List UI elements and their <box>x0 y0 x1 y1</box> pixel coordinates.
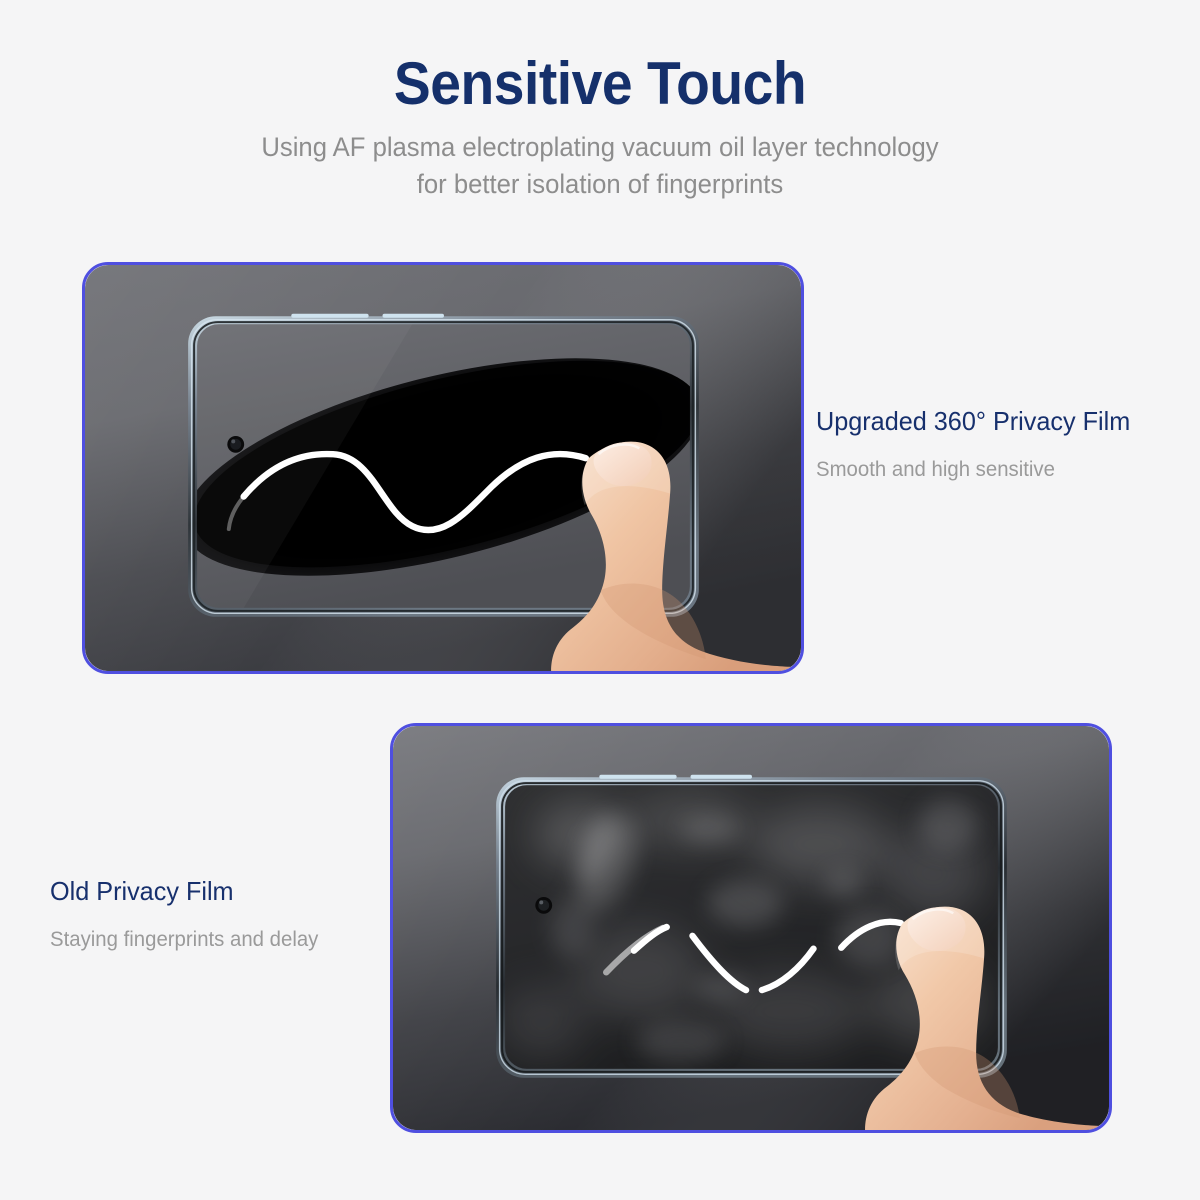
page-subtitle-line-2: for better isolation of fingerprints <box>30 166 1170 203</box>
page-title: Sensitive Touch <box>48 52 1152 115</box>
upgraded-film-callout-sub: Smooth and high sensitive <box>816 457 1175 482</box>
old-film-callout-sub: Staying fingerprints and delay <box>50 927 390 952</box>
phone-side-button-icon <box>691 775 752 779</box>
old-film-callout: Old Privacy Film Staying fingerprints an… <box>50 876 400 952</box>
upgraded-film-panel <box>82 262 804 674</box>
page-subtitle-line-1: Using AF plasma electroplating vacuum oi… <box>30 129 1170 166</box>
phone-side-button-icon <box>383 314 444 318</box>
upgraded-film-callout: Upgraded 360° Privacy Film Smooth and hi… <box>816 406 1186 482</box>
page-subtitle: Using AF plasma electroplating vacuum oi… <box>30 129 1170 202</box>
phone-side-button-icon <box>291 314 368 318</box>
page-header: Sensitive Touch Using AF plasma electrop… <box>0 0 1200 202</box>
phone-side-button-icon <box>599 775 676 779</box>
upgraded-film-callout-heading: Upgraded 360° Privacy Film <box>816 406 1175 437</box>
phone-camera-lens-glint <box>231 439 235 443</box>
old-film-callout-heading: Old Privacy Film <box>50 876 390 907</box>
upgraded-film-illustration <box>85 265 801 671</box>
old-film-illustration <box>393 726 1109 1130</box>
phone-camera-lens-glint <box>539 900 543 904</box>
old-film-panel <box>390 723 1112 1133</box>
